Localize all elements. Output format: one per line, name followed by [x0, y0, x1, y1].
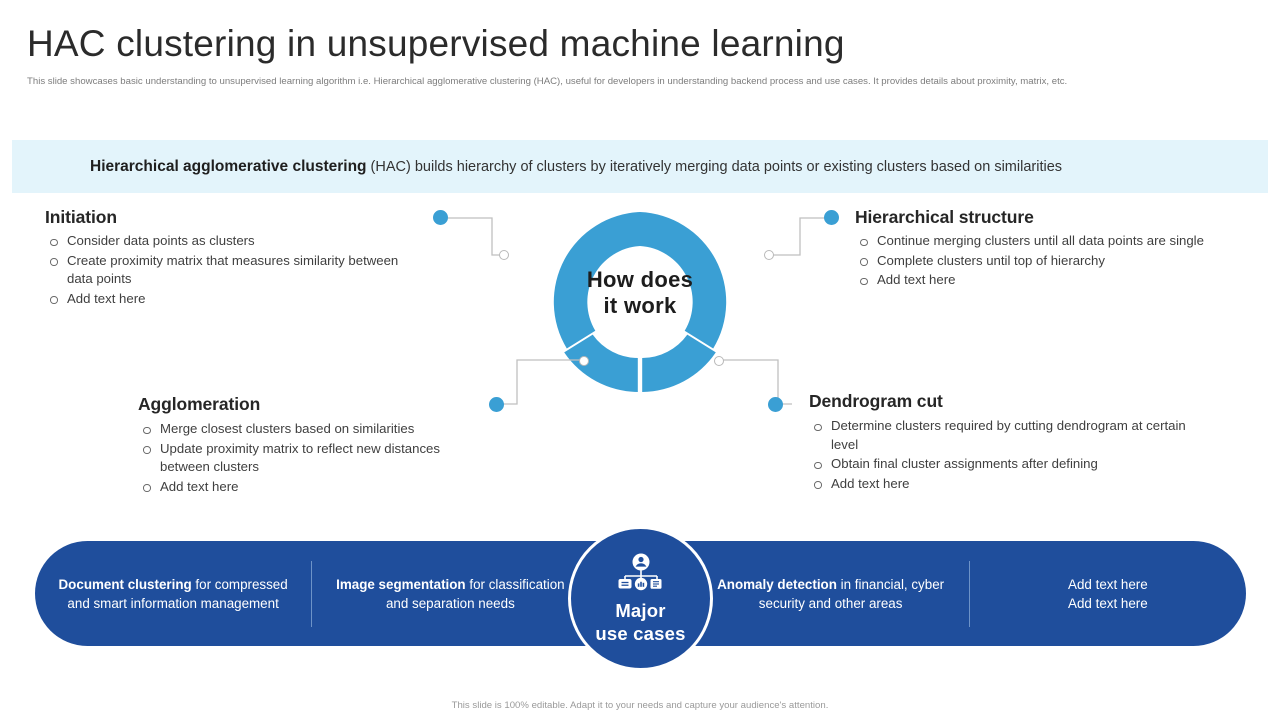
- list-item: Update proximity matrix to reflect new d…: [138, 440, 488, 477]
- list-item: Determine clusters required by cutting d…: [809, 417, 1199, 454]
- step-title-agglomeration: Agglomeration: [138, 394, 488, 415]
- slide-root: HAC clustering in unsupervised machine l…: [0, 0, 1280, 720]
- connector-node-02: [579, 356, 589, 366]
- connector-dot-01: [433, 210, 448, 225]
- use-case-bold-1: Document clustering: [59, 577, 192, 592]
- use-case-bold-2: Image segmentation: [336, 577, 465, 592]
- major-use-cases-line1: Major: [615, 600, 665, 621]
- definition-banner-rest: (HAC) builds hierarchy of clusters by it…: [367, 159, 1062, 175]
- definition-banner: Hierarchical agglomerative clustering (H…: [12, 140, 1268, 193]
- footer-note: This slide is 100% editable. Adapt it to…: [0, 700, 1280, 711]
- use-case-bold-3: Anomaly detection: [717, 577, 837, 592]
- step-title-initiation: Initiation: [45, 207, 405, 228]
- org-hierarchy-icon: [615, 553, 667, 593]
- connector-node-04: [764, 250, 774, 260]
- segment-number-03: 03: [212, 340, 230, 358]
- connector-node-03: [714, 356, 724, 366]
- step-title-dendrogram-cut: Dendrogram cut: [809, 391, 1199, 412]
- step-bullets-hierarchical-structure: Continue merging clusters until all data…: [855, 232, 1215, 290]
- step-block-initiation: Initiation Consider data points as clust…: [45, 207, 405, 309]
- list-item: Add text here: [45, 290, 405, 309]
- step-title-hierarchical-structure: Hierarchical structure: [855, 207, 1215, 228]
- step-bullets-initiation: Consider data points as clusters Create …: [45, 232, 405, 308]
- list-item: Add text here: [855, 271, 1215, 290]
- connector-dot-03: [768, 397, 783, 412]
- list-item: Complete clusters until top of hierarchy: [855, 252, 1215, 271]
- definition-banner-text: Hierarchical agglomerative clustering (H…: [90, 157, 1200, 177]
- list-item: Add text here: [809, 475, 1199, 494]
- major-use-cases-line2: use cases: [595, 623, 685, 644]
- use-case-item-4[interactable]: Add text here Add text here: [970, 575, 1246, 613]
- segment-number-02: 02: [85, 340, 103, 358]
- step-block-hierarchical-structure: Hierarchical structure Continue merging …: [855, 207, 1215, 291]
- step-bullets-dendrogram-cut: Determine clusters required by cutting d…: [809, 417, 1199, 493]
- connector-dot-04: [824, 210, 839, 225]
- list-item: Merge closest clusters based on similari…: [138, 420, 488, 439]
- use-case-rest-4: Add text here Add text here: [1068, 577, 1148, 611]
- page-title: HAC clustering in unsupervised machine l…: [27, 22, 845, 66]
- donut-segment-01[interactable]: [554, 212, 640, 349]
- use-case-item-3[interactable]: Anomaly detection in financial, cyber se…: [693, 575, 969, 613]
- use-case-item-1[interactable]: Document clustering for compressed and s…: [35, 575, 311, 613]
- connector-dot-02: [489, 397, 504, 412]
- definition-banner-bold: Hierarchical agglomerative clustering: [90, 158, 367, 175]
- list-item: Add text here: [138, 478, 488, 497]
- step-block-agglomeration: Agglomeration Merge closest clusters bas…: [138, 394, 488, 497]
- connector-node-01: [499, 250, 509, 260]
- step-bullets-agglomeration: Merge closest clusters based on similari…: [138, 420, 488, 496]
- use-case-item-2[interactable]: Image segmentation for classification an…: [312, 575, 588, 613]
- list-item: Obtain final cluster assignments after d…: [809, 455, 1199, 474]
- page-subtitle: This slide showcases basic understanding…: [27, 75, 1067, 88]
- list-item: Continue merging clusters until all data…: [855, 232, 1215, 251]
- donut-segment-04[interactable]: [640, 212, 726, 349]
- step-block-dendrogram-cut: Dendrogram cut Determine clusters requir…: [809, 391, 1199, 494]
- major-use-cases-circle[interactable]: Major use cases: [568, 526, 713, 671]
- list-item: Create proximity matrix that measures si…: [45, 252, 405, 289]
- list-item: Consider data points as clusters: [45, 232, 405, 251]
